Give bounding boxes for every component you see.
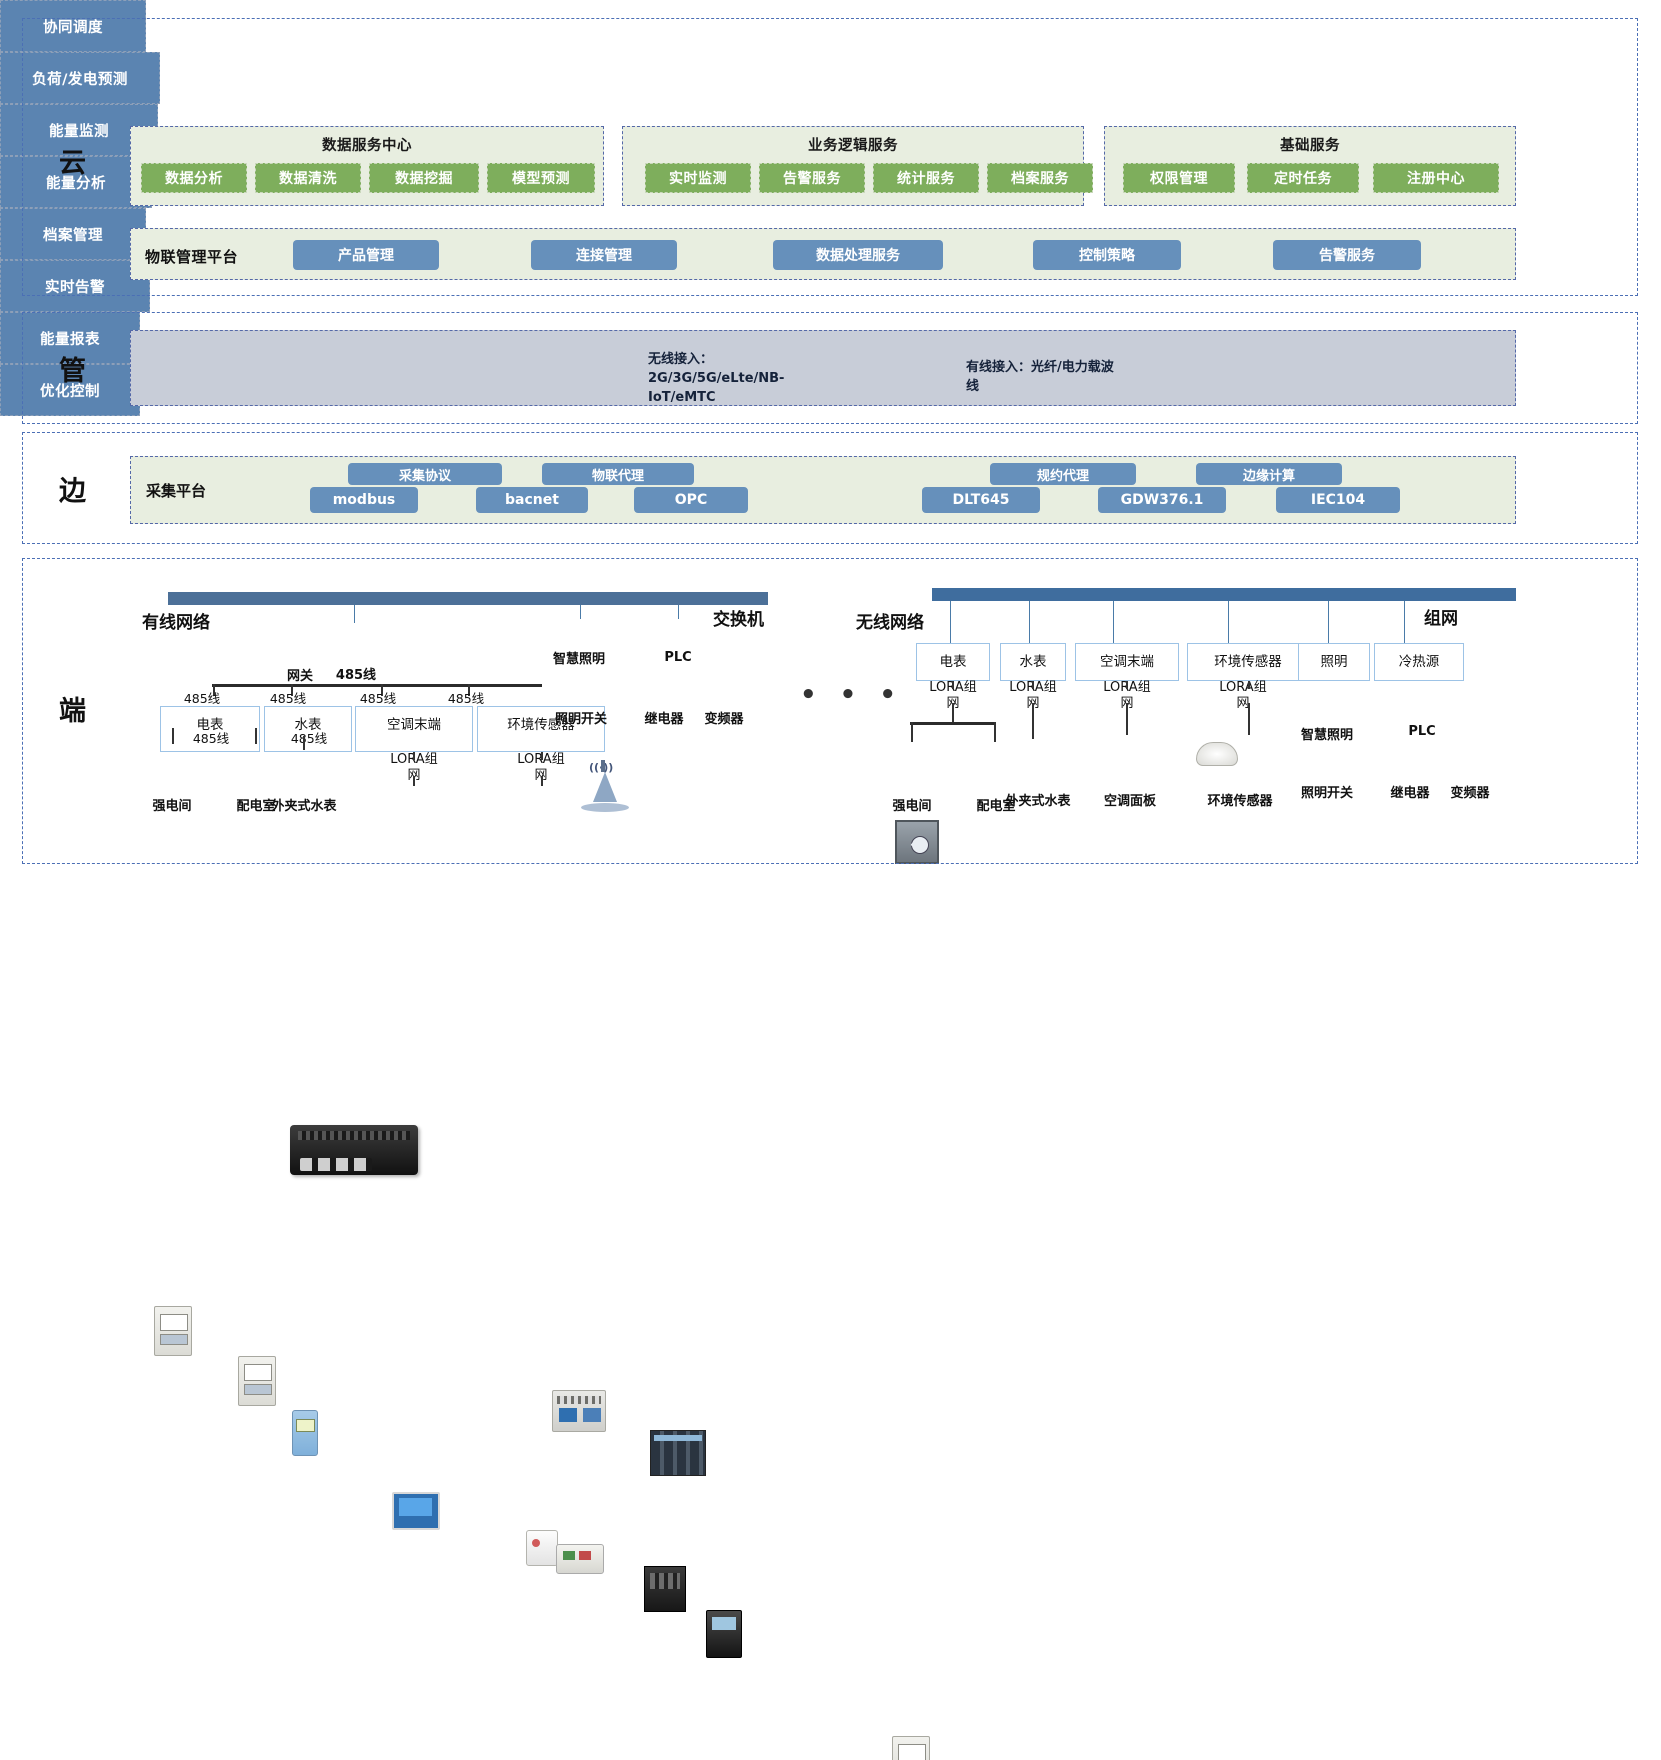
485-line-label: 485线 bbox=[258, 688, 318, 707]
wired-device-sub: 485线 bbox=[178, 728, 244, 747]
iot-platform-item[interactable]: 告警服务 bbox=[1273, 240, 1421, 270]
edge-tag[interactable]: 物联代理 bbox=[542, 463, 694, 485]
service-chip-label: 模型预测 bbox=[512, 168, 570, 188]
wireless-device-box[interactable]: 水表 bbox=[1000, 643, 1066, 681]
wired-switch-bus bbox=[168, 592, 768, 605]
wireless-device-caption: 空调面板 bbox=[1092, 790, 1168, 809]
service-chip-label: 告警服务 bbox=[783, 168, 841, 188]
wired-access-text: 有线接入：光纤/电力载波线 bbox=[966, 358, 1126, 396]
service-chip-label: 数据分析 bbox=[165, 168, 223, 188]
bus-drop-line bbox=[580, 605, 581, 619]
edge-tag[interactable]: 边缘计算 bbox=[1196, 463, 1342, 485]
wireless-device-title: 水表 bbox=[1020, 650, 1047, 670]
wireless-device-caption: 外夹式水表 bbox=[992, 790, 1084, 809]
plc-icon bbox=[650, 1430, 706, 1476]
wireless-sub-drop bbox=[952, 703, 954, 723]
iot-platform-band: 物联管理平台 产品管理 连接管理 数据处理服务 控制策略 告警服务 bbox=[130, 228, 1516, 280]
service-chip-label: 数据清洗 bbox=[279, 168, 337, 188]
wireless-device-title: 电表 bbox=[940, 650, 967, 670]
wireless-device-caption: 智慧照明 bbox=[1290, 724, 1364, 743]
iot-platform-item-label: 连接管理 bbox=[576, 245, 632, 265]
485-trunk-bar bbox=[212, 684, 542, 687]
cloud-layer-label: 云 bbox=[48, 140, 98, 180]
water-meter-icon bbox=[292, 1410, 318, 1456]
relay-icon bbox=[644, 1566, 686, 1612]
edge-protocol[interactable]: modbus bbox=[310, 487, 418, 513]
wireless-device-title: 照明 bbox=[1321, 650, 1348, 670]
edge-protocol[interactable]: IEC104 bbox=[1276, 487, 1400, 513]
service-chip[interactable]: 数据分析 bbox=[141, 163, 247, 193]
ellipsis-separator: • • • bbox=[800, 680, 903, 710]
edge-protocol-label: DLT645 bbox=[953, 492, 1010, 508]
side-device-caption: 智慧照明 bbox=[544, 648, 614, 667]
wireless-sub-drop bbox=[952, 681, 954, 689]
wireless-device-caption: PLC bbox=[1396, 724, 1448, 739]
bus-drop-line bbox=[678, 605, 679, 619]
edge-protocol-label: OPC bbox=[675, 492, 707, 508]
gateway-icon bbox=[290, 1125, 418, 1175]
edge-tag-label: 采集协议 bbox=[399, 465, 451, 484]
wireless-device-caption: 环境传感器 bbox=[1186, 790, 1294, 809]
wireless-device-title: 冷热源 bbox=[1399, 650, 1440, 670]
485-line-label: 485线 bbox=[436, 688, 496, 707]
wired-device-title: 空调末端 bbox=[387, 713, 441, 733]
wireless-device-box[interactable]: 空调末端 bbox=[1075, 643, 1179, 681]
wireless-sub-drop bbox=[1126, 703, 1128, 735]
iot-platform-item-label: 产品管理 bbox=[338, 245, 394, 265]
wireless-sub-drop bbox=[1248, 703, 1250, 735]
wireless-drop bbox=[1328, 601, 1329, 643]
iot-platform-item-label: 数据处理服务 bbox=[816, 245, 900, 265]
wireless-drop bbox=[1404, 601, 1405, 643]
wireless-network-label: 无线网络 bbox=[856, 608, 924, 633]
wireless-device-caption: 变频器 bbox=[1438, 782, 1502, 801]
wireless-sub-drop bbox=[1032, 681, 1034, 689]
service-chip[interactable]: 统计服务 bbox=[873, 163, 979, 193]
wireless-device-caption: 照明开关 bbox=[1288, 782, 1366, 801]
device-drop bbox=[172, 728, 174, 744]
device-drop bbox=[413, 776, 415, 786]
service-chip-label: 数据挖掘 bbox=[395, 168, 453, 188]
edge-protocol-label: modbus bbox=[333, 492, 396, 508]
service-chip[interactable]: 权限管理 bbox=[1123, 163, 1235, 193]
light-switch-icon bbox=[556, 1544, 604, 1574]
service-chip[interactable]: 实时监测 bbox=[645, 163, 751, 193]
edge-platform-title: 采集平台 bbox=[146, 480, 206, 501]
service-chip[interactable]: 档案服务 bbox=[987, 163, 1093, 193]
wired-device-box[interactable]: 空调末端 bbox=[355, 706, 473, 752]
wireless-device-caption: 强电间 bbox=[876, 795, 948, 814]
edge-protocol-label: IEC104 bbox=[1311, 492, 1365, 508]
wired-device-sub: 485线 bbox=[276, 728, 342, 747]
pipe-layer-label: 管 bbox=[48, 348, 98, 388]
iot-platform-item[interactable]: 产品管理 bbox=[293, 240, 439, 270]
side-device-caption: 照明开关 bbox=[542, 708, 620, 727]
iot-platform-item[interactable]: 数据处理服务 bbox=[773, 240, 943, 270]
service-group-title: 基础服务 bbox=[1105, 134, 1515, 155]
switch-label: 交换机 bbox=[713, 605, 764, 630]
service-chip[interactable]: 注册中心 bbox=[1373, 163, 1499, 193]
wireless-sub-drop bbox=[1126, 681, 1128, 689]
service-chip-label: 定时任务 bbox=[1274, 168, 1332, 188]
iot-platform-item[interactable]: 控制策略 bbox=[1033, 240, 1181, 270]
service-group-title: 业务逻辑服务 bbox=[623, 134, 1083, 155]
edge-tag[interactable]: 规约代理 bbox=[990, 463, 1136, 485]
wireless-device-caption: 继电器 bbox=[1380, 782, 1440, 801]
wireless-device-sub: LORA组网 bbox=[1214, 680, 1272, 712]
wireless-meter-branch bbox=[910, 722, 996, 725]
service-chip-label: 统计服务 bbox=[897, 168, 955, 188]
side-device-caption: PLC bbox=[652, 650, 704, 665]
edge-tag-label: 规约代理 bbox=[1037, 465, 1089, 484]
electric-meter-icon bbox=[892, 1736, 930, 1760]
edge-protocol-label: bacnet bbox=[505, 492, 559, 508]
wireless-device-title: 环境传感器 bbox=[1214, 650, 1282, 670]
device-drop bbox=[413, 752, 415, 760]
pipe-band bbox=[130, 330, 1516, 406]
device-layer-label: 端 bbox=[48, 688, 98, 728]
electric-meter-icon bbox=[154, 1306, 192, 1356]
electric-meter-icon bbox=[238, 1356, 276, 1406]
gateway-label: 网关 bbox=[276, 665, 324, 684]
wireless-bus-label: 组网 bbox=[1424, 604, 1458, 629]
wireless-device-box[interactable]: 照明 bbox=[1298, 643, 1370, 681]
wired-device-caption: 外夹式水表 bbox=[266, 795, 342, 814]
wireless-sub-drop bbox=[1032, 703, 1034, 739]
485-line-label: 485线 bbox=[172, 688, 232, 707]
device-drop bbox=[541, 776, 543, 786]
wired-network-label: 有线网络 bbox=[142, 608, 210, 633]
device-drop bbox=[303, 736, 305, 750]
service-chip-label: 档案服务 bbox=[1011, 168, 1069, 188]
iot-platform-item[interactable]: 连接管理 bbox=[531, 240, 677, 270]
service-chip-label: 实时监测 bbox=[669, 168, 727, 188]
wireless-sub-drop bbox=[994, 722, 996, 742]
wireless-device-box[interactable]: 冷热源 bbox=[1374, 643, 1464, 681]
smoke-detector-icon bbox=[1196, 742, 1238, 766]
edge-tag-label: 物联代理 bbox=[592, 465, 644, 484]
ac-panel-icon bbox=[392, 1492, 440, 1530]
wireless-device-box[interactable]: 电表 bbox=[916, 643, 990, 681]
smart-lighting-icon bbox=[552, 1390, 606, 1432]
edge-protocol[interactable]: GDW376.1 bbox=[1098, 487, 1226, 513]
service-chip[interactable]: 告警服务 bbox=[759, 163, 865, 193]
side-device-caption: 变频器 bbox=[692, 708, 756, 727]
service-group-business-logic: 业务逻辑服务 实时监测 告警服务 统计服务 档案服务 bbox=[622, 126, 1084, 206]
service-chip[interactable]: 数据清洗 bbox=[255, 163, 361, 193]
service-chip[interactable]: 数据挖掘 bbox=[369, 163, 479, 193]
edge-tag-label: 边缘计算 bbox=[1243, 465, 1295, 484]
device-drop bbox=[541, 752, 543, 760]
wireless-access-text: 无线接入： 2G/3G/5G/eLte/NB-IoT/eMTC bbox=[648, 350, 818, 407]
wireless-bus bbox=[932, 588, 1516, 601]
edge-protocol[interactable]: bacnet bbox=[476, 487, 588, 513]
edge-protocol[interactable]: DLT645 bbox=[922, 487, 1040, 513]
service-chip[interactable]: 模型预测 bbox=[487, 163, 595, 193]
wireless-drop bbox=[1113, 601, 1114, 643]
vfd-icon bbox=[706, 1610, 742, 1658]
485-line-label: 485线 bbox=[348, 688, 408, 707]
device-drop bbox=[255, 728, 257, 744]
iot-platform-item-label: 告警服务 bbox=[1319, 245, 1375, 265]
wireless-device-title: 空调末端 bbox=[1100, 650, 1154, 670]
service-group-basic: 基础服务 权限管理 定时任务 注册中心 bbox=[1104, 126, 1516, 206]
iot-platform-title: 物联管理平台 bbox=[145, 246, 238, 267]
wireless-drop bbox=[1029, 601, 1030, 643]
wireless-sub-drop bbox=[1248, 681, 1250, 689]
bus-drop-line bbox=[354, 605, 355, 623]
service-chip[interactable]: 定时任务 bbox=[1247, 163, 1359, 193]
wired-device-caption: 强电间 bbox=[136, 795, 208, 814]
iot-platform-item-label: 控制策略 bbox=[1079, 245, 1135, 265]
gateway-line-label: 485线 bbox=[328, 664, 384, 683]
edge-protocol[interactable]: OPC bbox=[634, 487, 748, 513]
architecture-diagram: 云 协同调度 负荷/发电预测 能量监测 能量分析 档案管理 实时告警 能量报表 … bbox=[0, 0, 1661, 880]
edge-layer-label: 边 bbox=[48, 468, 98, 508]
wireless-device-box[interactable]: 环境传感器 bbox=[1187, 643, 1309, 681]
wireless-drop bbox=[1228, 601, 1229, 643]
env-sensor-icon bbox=[526, 1530, 558, 1566]
service-group-title: 数据服务中心 bbox=[131, 134, 603, 155]
service-chip-label: 权限管理 bbox=[1150, 168, 1208, 188]
service-chip-label: 注册中心 bbox=[1407, 168, 1465, 188]
service-group-data-center: 数据服务中心 数据分析 数据清洗 数据挖掘 模型预测 bbox=[130, 126, 604, 206]
wireless-drop bbox=[950, 601, 951, 643]
wireless-sub-drop bbox=[911, 722, 913, 742]
side-device-caption: 继电器 bbox=[634, 708, 694, 727]
edge-tag[interactable]: 采集协议 bbox=[348, 463, 502, 485]
edge-protocol-label: GDW376.1 bbox=[1121, 492, 1204, 508]
